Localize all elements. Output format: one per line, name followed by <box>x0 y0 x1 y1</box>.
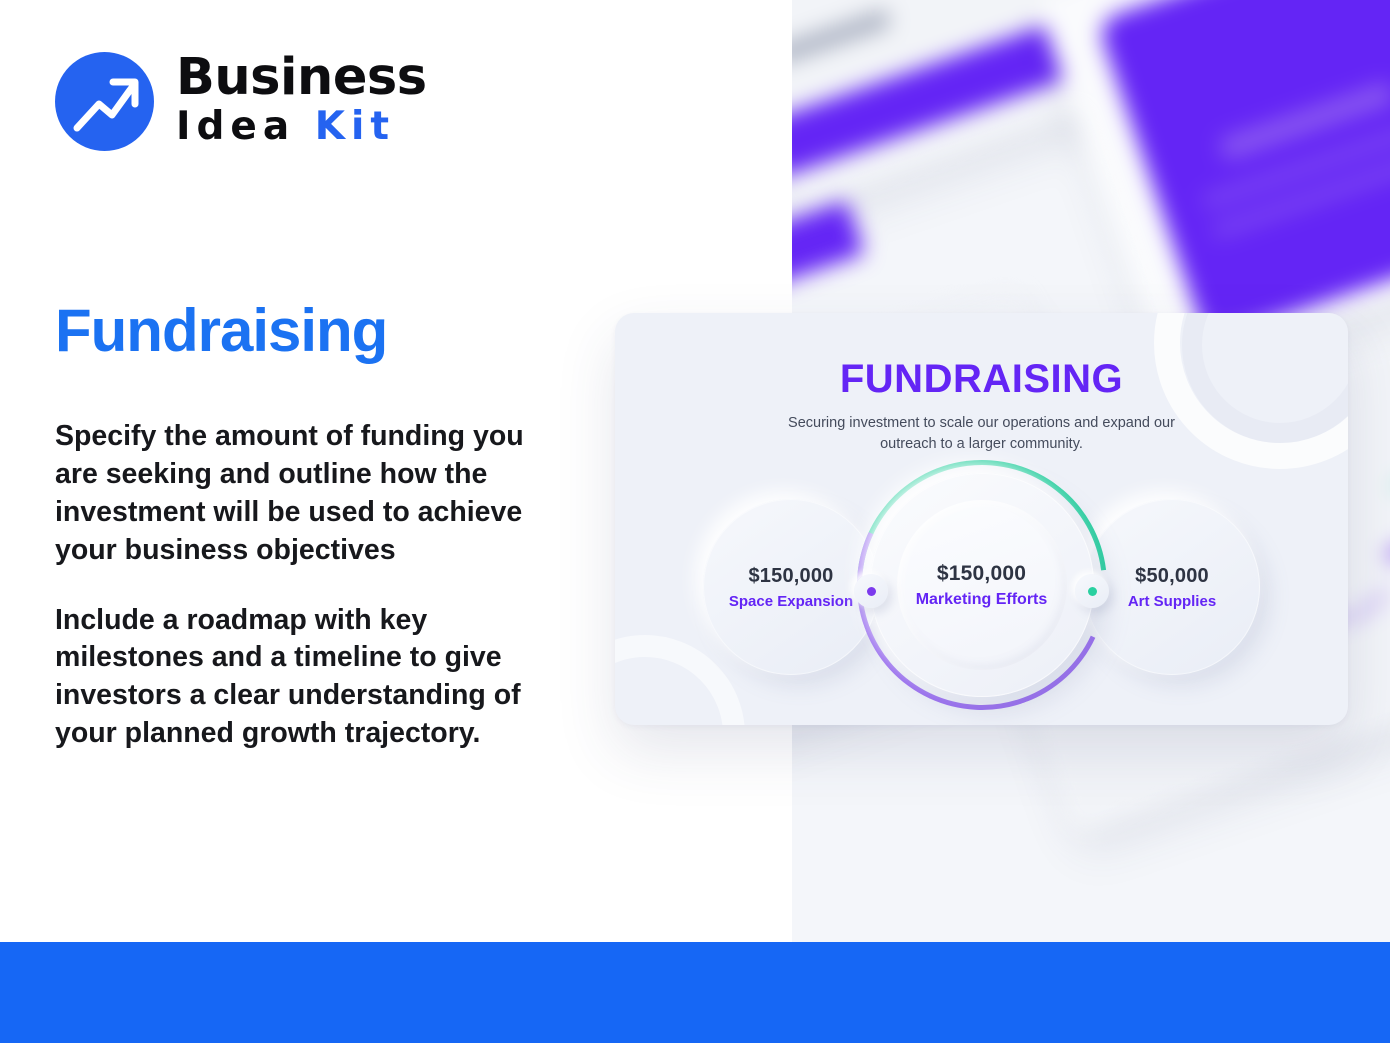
right-connector-dot <box>1075 574 1109 608</box>
trending-up-arrow-icon <box>55 52 154 151</box>
fundraising-card: FUNDRAISING Securing investment to scale… <box>615 313 1348 725</box>
brand-wordmark: Business Idea Kit <box>176 54 427 150</box>
card-subtitle: Securing investment to scale our operati… <box>772 413 1192 455</box>
funding-amount-right: $50,000 <box>1135 565 1209 588</box>
slide-page: FUNDRAISING Securing investment to scale… <box>0 0 1390 1043</box>
footer-bar <box>0 942 1390 1043</box>
brand-line-2-dark: Idea <box>176 104 295 149</box>
brand-line-2-accent: Kit <box>315 104 395 149</box>
funding-circle-left[interactable]: $150,000 Space Expansion <box>703 499 879 675</box>
left-connector-dot-core <box>867 587 876 596</box>
brand-logo[interactable]: Business Idea Kit <box>55 52 427 151</box>
body-copy: Specify the amount of funding you are se… <box>55 418 560 753</box>
funding-circle-right[interactable]: $50,000 Art Supplies <box>1084 499 1260 675</box>
brand-line-1: Business <box>176 54 427 103</box>
right-connector-dot-core <box>1088 587 1097 596</box>
body-paragraph-1: Specify the amount of funding you are se… <box>55 418 560 570</box>
funding-purpose-left: Space Expansion <box>729 593 853 610</box>
funding-circle-center[interactable]: $150,000 Marketing Efforts <box>870 473 1094 697</box>
funding-circles-cluster: $150,000 Space Expansion $150,000 Market… <box>615 473 1348 713</box>
brand-line-2: Idea Kit <box>176 105 427 150</box>
funding-amount-center: $150,000 <box>937 562 1026 586</box>
funding-purpose-right: Art Supplies <box>1128 593 1216 610</box>
left-connector-dot <box>854 574 888 608</box>
funding-purpose-center: Marketing Efforts <box>916 591 1048 609</box>
funding-circle-center-inner: $150,000 Marketing Efforts <box>897 500 1067 670</box>
page-title: Fundraising <box>55 296 387 365</box>
bg-accent-bar-b <box>792 200 865 305</box>
body-paragraph-2: Include a roadmap with key milestones an… <box>55 602 560 754</box>
funding-amount-left: $150,000 <box>748 565 833 588</box>
card-title: FUNDRAISING <box>615 357 1348 402</box>
